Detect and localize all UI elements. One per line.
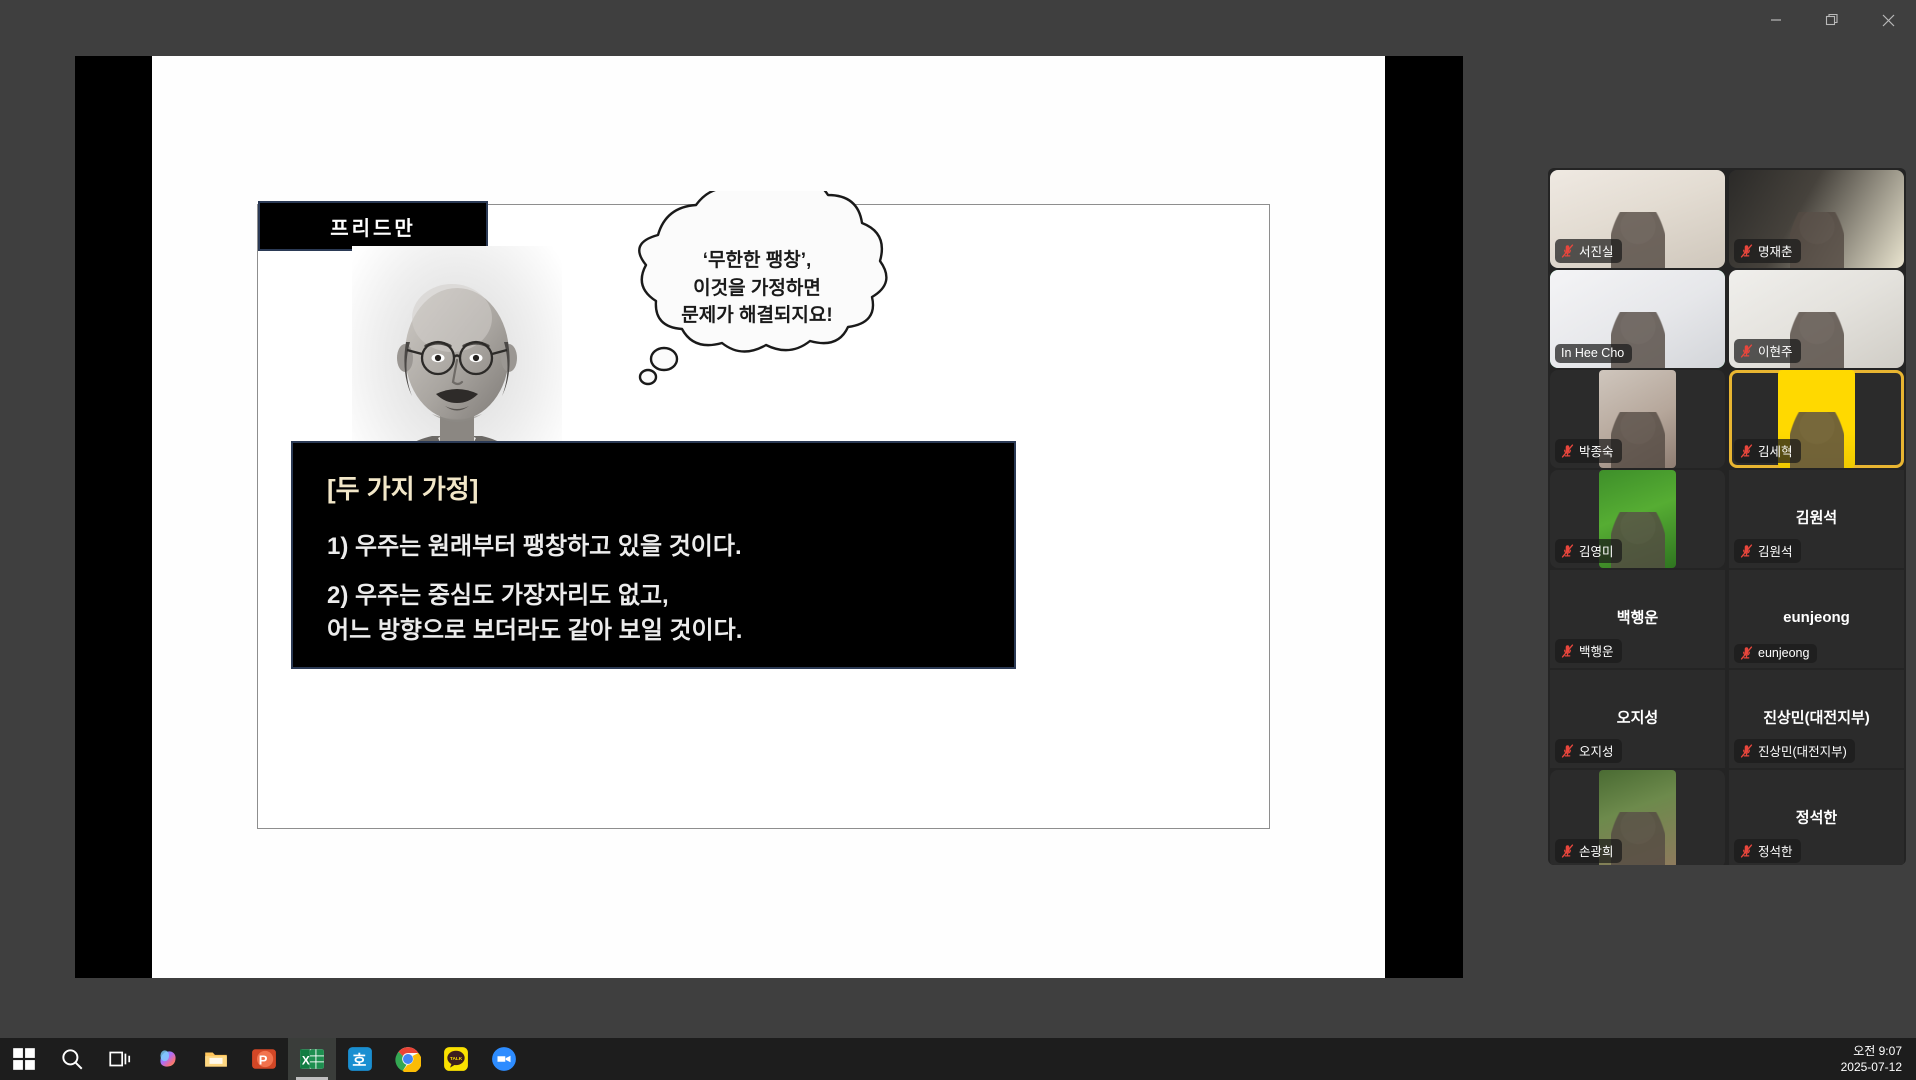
participant-tile[interactable]: 명재춘 [1729,170,1904,268]
chrome-icon[interactable] [384,1038,432,1080]
file-explorer-icon[interactable] [192,1038,240,1080]
participant-name-badge: 명재춘 [1734,239,1801,263]
svg-text:호: 호 [352,1052,366,1070]
svg-text:X: X [302,1053,310,1067]
participant-name-label: 김세혁 [1758,441,1793,460]
mic-muted-icon [1561,444,1574,458]
window-titlebar [0,0,1916,40]
participant-name-badge: 오지성 [1555,739,1622,763]
participant-name-badge: 김원석 [1734,539,1801,563]
thought-bubble-text: ‘무한한 팽창’, 이것을 가정하면 문제가 해결되지요! [592,247,922,330]
participant-tile[interactable]: 오지성 오지성 [1550,670,1725,768]
clock-date: 2025-07-12 [1841,1059,1902,1075]
mic-muted-icon [1561,244,1574,258]
participant-tile[interactable]: 김영미 [1550,470,1725,568]
presentation-slide: 프리드만 [152,56,1385,978]
participant-tile[interactable]: 손광희 [1550,770,1725,865]
windows-start-icon[interactable] [0,1038,48,1080]
participant-name-badge: 김영미 [1555,539,1622,563]
participant-name-badge: 백행운 [1555,639,1622,663]
mic-muted-icon [1740,244,1753,258]
participant-name-badge: 진상민(대전지부) [1734,739,1855,763]
clock-time: 오전 9:07 [1853,1043,1902,1059]
participant-center-name: 정석한 [1729,806,1904,827]
participant-tile[interactable]: 진상민(대전지부) 진상민(대전지부) [1729,670,1904,768]
powerpoint-icon[interactable]: P [240,1038,288,1080]
zoom-meeting-window: 프리드만 [0,0,1916,1080]
mic-muted-icon [1740,844,1753,858]
assumptions-heading: [두 가지 가정] [327,469,980,506]
mic-muted-icon [1740,646,1753,660]
participant-name-label: eunjeong [1758,646,1809,660]
participant-name-badge: In Hee Cho [1555,344,1632,363]
participant-name-badge: eunjeong [1734,644,1817,663]
participant-tile[interactable]: eunjeong eunjeong [1729,570,1904,668]
kakaotalk-icon[interactable]: TALK [432,1038,480,1080]
participant-center-name: 오지성 [1550,706,1725,727]
slide-title-box: 프리드만 [258,201,488,251]
participant-name-badge: 정석한 [1734,839,1801,863]
participant-name-badge: 박종숙 [1555,439,1622,463]
participant-center-name: 백행운 [1550,606,1725,627]
excel-icon[interactable]: X [288,1038,336,1080]
participant-name-label: 손광희 [1579,841,1614,860]
close-button[interactable] [1860,0,1916,40]
mic-muted-icon [1561,744,1574,758]
search-icon[interactable] [48,1038,96,1080]
participant-name-label: 김영미 [1579,541,1614,560]
participant-name-label: 김원석 [1758,541,1793,560]
hancom-icon[interactable]: 호 [336,1038,384,1080]
mic-muted-icon [1740,544,1753,558]
participant-center-name: 김원석 [1729,506,1904,527]
shared-screen-area[interactable]: 프리드만 [75,56,1463,978]
participant-name-badge: 김세혁 [1734,439,1801,463]
participant-center-name: 진상민(대전지부) [1729,706,1904,727]
svg-text:P: P [259,1052,268,1067]
participant-name-label: 정석한 [1758,841,1793,860]
restore-button[interactable] [1804,0,1860,40]
mic-muted-icon [1740,744,1753,758]
participant-center-name: eunjeong [1729,609,1904,626]
mic-muted-icon [1740,344,1753,358]
participant-name-badge: 서진실 [1555,239,1622,263]
participant-name-label: 오지성 [1579,741,1614,760]
participant-tile[interactable]: In Hee Cho [1550,270,1725,368]
participant-name-badge: 이현주 [1734,339,1801,363]
participant-tile[interactable]: 이현주 [1729,270,1904,368]
mic-muted-icon [1740,444,1753,458]
participant-tile[interactable]: 박종숙 [1550,370,1725,468]
thought-bubble: ‘무한한 팽창’, 이것을 가정하면 문제가 해결되지요! [592,191,922,391]
participant-name-label: In Hee Cho [1561,346,1624,360]
task-view-icon[interactable] [96,1038,144,1080]
assumption-item-1: 1) 우주는 원래부터 팽창하고 있을 것이다. [327,530,980,565]
participant-video-strip[interactable]: 서진실 명재춘In Hee Cho 이현주 박종숙 김세혁 김영미김원석 김원석… [1548,168,1906,865]
participant-name-label: 박종숙 [1579,441,1614,460]
participant-tile[interactable]: 정석한 정석한 [1729,770,1904,865]
mic-muted-icon [1561,644,1574,658]
zoom-icon[interactable] [480,1038,528,1080]
assumptions-box: [두 가지 가정] 1) 우주는 원래부터 팽창하고 있을 것이다. 2) 우주… [291,441,1016,669]
participant-name-label: 백행운 [1579,641,1614,660]
participant-name-label: 명재춘 [1758,241,1793,260]
participant-tile[interactable]: 서진실 [1550,170,1725,268]
participant-name-label: 이현주 [1758,341,1793,360]
participant-tile[interactable]: 김원석 김원석 [1729,470,1904,568]
svg-text:TALK: TALK [450,1056,463,1062]
taskbar-clock[interactable]: 오전 9:07 2025-07-12 [1841,1038,1902,1080]
participant-tile[interactable]: 백행운 백행운 [1550,570,1725,668]
mic-muted-icon [1561,544,1574,558]
participant-tile[interactable]: 김세혁 [1729,370,1904,468]
participant-name-label: 진상민(대전지부) [1758,741,1847,760]
minimize-button[interactable] [1748,0,1804,40]
slide-title: 프리드만 [330,212,416,241]
participant-name-label: 서진실 [1579,241,1614,260]
windows-taskbar: P X 호 [0,1038,1916,1080]
copilot-icon[interactable] [144,1038,192,1080]
assumption-item-2: 2) 우주는 중심도 가장자리도 없고, 어느 방향으로 보더라도 같아 보일 … [327,579,980,649]
participant-name-badge: 손광희 [1555,839,1622,863]
mic-muted-icon [1561,844,1574,858]
